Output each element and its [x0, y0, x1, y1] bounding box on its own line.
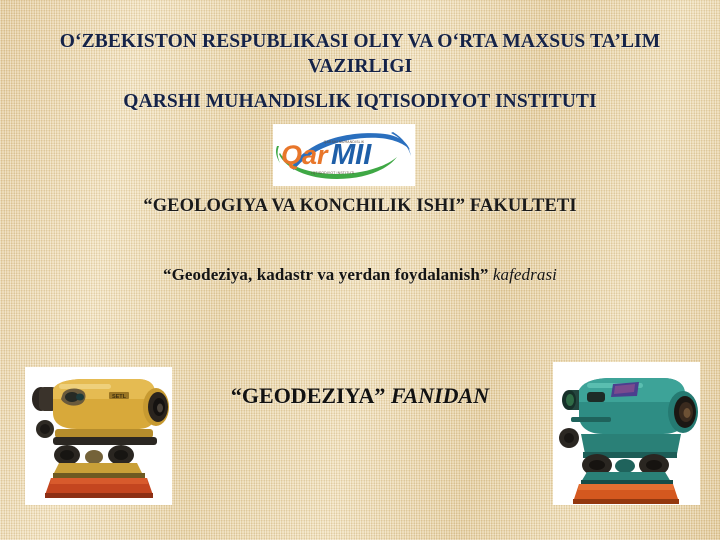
logo-wordmark-mii: MII: [331, 139, 372, 171]
ministry-heading: O‘ZBEKISTON RESPUBLIKASI OLIY VA O‘RTA M…: [0, 29, 720, 79]
logo-wordmark-qar: Qar: [281, 140, 329, 170]
subject-title: “GEODEZIYA” FANIDAN: [180, 383, 540, 409]
optical-level-yellow-illustration: SETL: [25, 367, 172, 505]
qarmii-logo: QARSHI MUHANDISLIK IQTISODIYOT INSTITUTI…: [273, 124, 415, 186]
optical-level-teal-illustration: LVL: [553, 362, 700, 505]
kafedra-name: “Geodeziya, kadastr va yerdan foydalanis…: [163, 265, 489, 284]
kafedra-suffix: kafedrasi: [488, 265, 557, 284]
presentation-slide: O‘ZBEKISTON RESPUBLIKASI OLIY VA O‘RTA M…: [0, 0, 720, 540]
logo-micro-text-bottom: IQTISODIYOT INSTITUTI: [311, 171, 354, 175]
subject-name: “GEODEZIYA”: [231, 383, 385, 408]
institute-heading: QARSHI MUHANDISLIK IQTISODIYOT INSTITUTI: [0, 89, 720, 114]
photo-optical-level-yellow: SETL: [25, 367, 172, 505]
subject-suffix: FANIDAN: [385, 383, 489, 408]
qarmii-logo-graphic: QARSHI MUHANDISLIK IQTISODIYOT INSTITUTI…: [273, 124, 415, 186]
kafedra-heading: “Geodeziya, kadastr va yerdan foydalanis…: [0, 265, 720, 285]
svg-text:SETL: SETL: [112, 394, 127, 400]
photo-optical-level-teal: LVL: [553, 362, 700, 505]
faculty-heading: “GEOLOGIYA VA KONCHILIK ISHI” FAKULTETI: [0, 196, 720, 217]
